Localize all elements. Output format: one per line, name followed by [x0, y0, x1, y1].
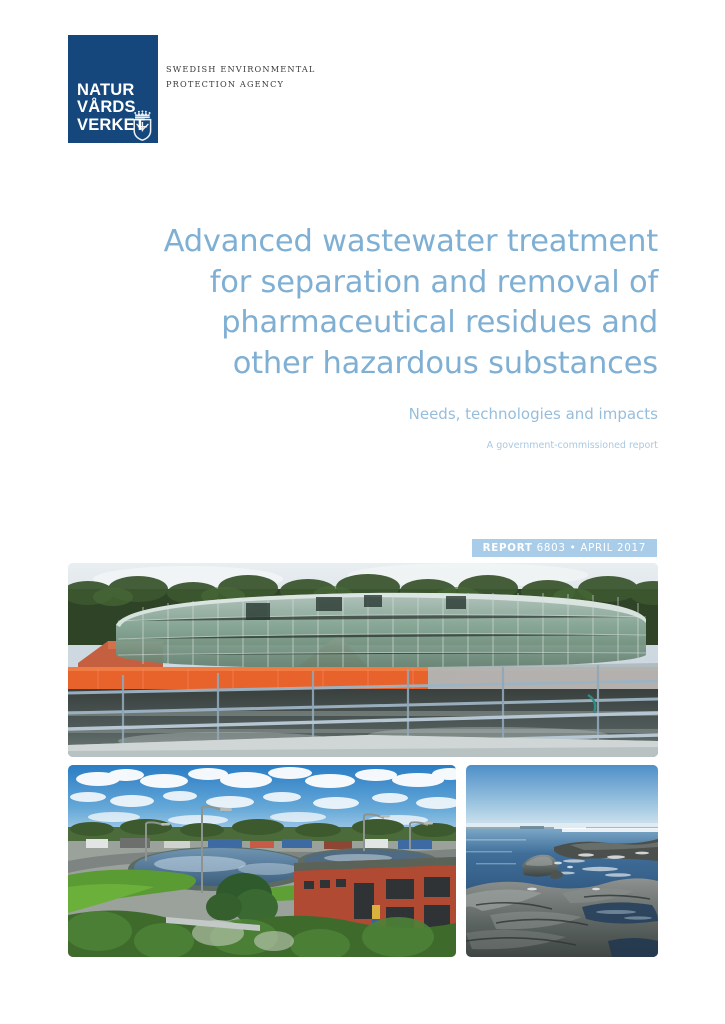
photo-coastline: [466, 765, 658, 957]
photo-plant-aerial-wide: [68, 563, 658, 757]
agency-name: SWEDISH ENVIRONMENTAL PROTECTION AGENCY: [166, 62, 316, 91]
agency-name-line-2: PROTECTION AGENCY: [166, 77, 316, 92]
swedish-three-crowns-shield-icon: [132, 109, 155, 141]
naturvardsverket-logo: NATUR VÅRDS VERKET: [68, 35, 158, 143]
photo-plant-overview: [68, 765, 456, 957]
logo-wordmark-line-1: NATUR: [77, 82, 149, 100]
report-banner-label: REPORT: [483, 542, 533, 554]
title-line-2: for separation and removal of: [68, 263, 658, 304]
report-banner: REPORT 6803 • APRIL 2017: [472, 539, 657, 557]
page-subtitle: Needs, technologies and impacts: [68, 404, 658, 424]
title-line-4: other hazardous substances: [68, 344, 658, 385]
page-title: Advanced wastewater treatment for separa…: [68, 222, 658, 384]
document-cover-page: NATUR VÅRDS VERKET: [0, 0, 725, 1024]
title-block: Advanced wastewater treatment for separa…: [68, 222, 658, 453]
report-banner-details: 6803 • APRIL 2017: [537, 542, 646, 554]
title-line-3: pharmaceutical residues and: [68, 303, 658, 344]
agency-name-line-1: SWEDISH ENVIRONMENTAL: [166, 62, 316, 77]
page-note: A government-commissioned report: [68, 439, 658, 453]
title-line-1: Advanced wastewater treatment: [68, 222, 658, 263]
publisher-logo-block: NATUR VÅRDS VERKET: [68, 35, 658, 145]
